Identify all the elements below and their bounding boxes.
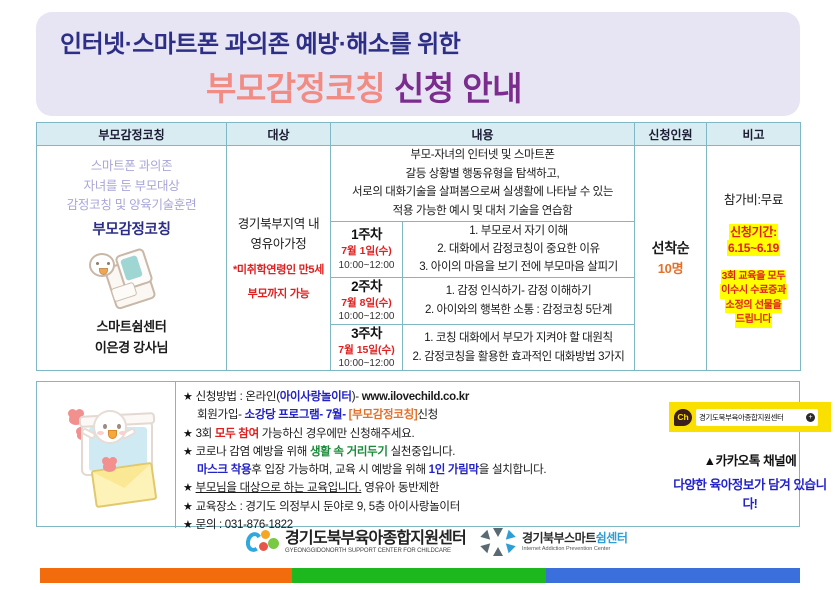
remark-gift-line1: 3회 교육을 모두 [721, 270, 787, 285]
program-instructor: 이은경 강사님 [37, 338, 226, 359]
note-line-apply-path: 회원가입- 소강당 프로그램- 7월- [부모감정코칭]신청 [183, 406, 653, 424]
note-segment: 을 설치합니다. [479, 464, 546, 476]
program-center-name: 스마트쉼센터 [37, 317, 226, 338]
cell-content-intro: 부모-자녀의 인터넷 및 스마트폰 갈등 상황별 행동유형을 탐색하고, 서로의… [331, 146, 635, 222]
character-in-box-with-envelope-icon [59, 400, 163, 512]
remark-period-label: 신청기간: [729, 224, 778, 240]
note-line-location: ★교육장소 : 경기도 의정부시 둔야로 9, 5층 아이사랑놀이터 [183, 498, 653, 516]
logo-smart-rest-center: 경기북부스마트쉼센터 Internet Addiction Prevention… [480, 528, 627, 556]
note-segment: 생활 속 거리두기 [310, 446, 388, 458]
star-icon: ★ [183, 446, 193, 458]
star-icon: ★ [183, 391, 193, 403]
program-title: 부모감정코칭 [37, 218, 226, 239]
note-segment[interactable]: www.ilovechild.co.kr [362, 391, 469, 403]
week1-label: 1주차 7월 1일(수) 10:00~12:00 [331, 221, 403, 277]
banner-subtitle: 인터넷·스마트폰 과의존 예방·해소를 위한 [60, 24, 460, 59]
week3-time: 10:00~12:00 [331, 357, 402, 371]
note-segment: 실천중입니다. [388, 446, 455, 458]
header-banner: 인터넷·스마트폰 과의존 예방·해소를 위한 부모감정코칭 신청 안내 [36, 12, 800, 116]
remark-period-value: 6.15~6.19 [727, 240, 780, 256]
note-segment: 소강당 프로그램- 7월- [245, 409, 346, 421]
content-intro-line-1: 부모-자녀의 인터넷 및 스마트폰 [331, 146, 634, 165]
flyer-page: 인터넷·스마트폰 과의존 예방·해소를 위한 부모감정코칭 신청 안내 부모감정… [0, 0, 835, 590]
week1-item-2: 2. 대화에서 감정코칭이 중요한 이유 [403, 240, 634, 258]
week2-item-2: 2. 아이와의 행복한 소통 : 감정코칭 5단계 [403, 301, 634, 319]
note-segment: 부모님을 대상으로 하는 교육입니다. [196, 482, 362, 494]
kakao-channel-name: 경기도북부육아종합지원센터 [699, 412, 784, 423]
count-method: 선착순 [635, 238, 706, 259]
th-remark: 비고 [707, 123, 801, 146]
th-target: 대상 [227, 123, 331, 146]
kakao-caption-2: 다양한 육아정보가 담겨 있습니다! [669, 474, 831, 512]
week2-items: 1. 감정 인식하기- 감정 이해하기 2. 아이와의 행복한 소통 : 감정코… [403, 277, 635, 324]
note-segment: [부모감정코칭] [349, 409, 418, 421]
note-segment: 신청방법 : 온라인( [196, 391, 280, 403]
note-segment: 신청 [417, 409, 438, 421]
logo2-korean-name: 경기북부스마트쉼센터 [522, 532, 627, 545]
content-intro-line-3: 서로의 대화기술을 살펴봄으로써 실생활에 나타날 수 있는 [331, 183, 634, 202]
logo2-kr-b: 쉼센터 [596, 531, 628, 545]
th-count: 신청인원 [635, 123, 707, 146]
logo2-english-name: Internet Addiction Prevention Center [522, 546, 627, 552]
note-segment: 영유아 동반제한 [361, 482, 439, 494]
star-icon: ★ [183, 501, 193, 513]
stripe-segment-green [292, 568, 546, 583]
program-sub1: 스마트폰 과의존 [37, 157, 226, 176]
week3-item-1: 1. 코칭 대화에서 부모가 지켜야 할 대원칙 [403, 329, 634, 347]
th-program: 부모감정코칭 [37, 123, 227, 146]
star-icon: ★ [183, 428, 193, 440]
note-line-covid-mask: 마스크 착용후 입장 가능하며, 교육 시 예방을 위해 1인 가림막을 설치합… [183, 461, 653, 479]
week1-date: 7월 1일(수) [331, 244, 402, 258]
week2-date: 7월 8일(수) [331, 296, 402, 310]
week1-item-3: 3. 아이의 마음을 보기 전에 부모마음 살피기 [403, 258, 634, 276]
week3-item-2: 2. 감정코칭을 활용한 효과적인 대화방법 3가지 [403, 348, 634, 366]
note-line-apply-method: ★신청방법 : 온라인(아이사랑놀이터)- www.ilovechild.co.… [183, 388, 653, 406]
week2-no: 2주차 [331, 278, 402, 296]
note-line-covid-distance: ★코로나 감염 예방을 위해 생활 속 거리두기 실천중입니다. [183, 443, 653, 461]
program-sub3: 감정코칭 및 양육기술훈련 [37, 196, 226, 215]
logo-childcare-center: 경기도북부육아종합지원센터 GYEONGGIDONORTH SUPPORT CE… [246, 529, 466, 555]
logo2-kr-a: 경기북부스마트 [522, 531, 596, 545]
kakao-channel-block: Ch 경기도북부육아종합지원센터 + ▲카카오톡 채널에 다양한 육아정보가 담… [669, 402, 831, 512]
cell-remark: 참가비:무료 신청기간: 6.15~6.19 3회 교육을 모두 이수시 수료증… [707, 146, 801, 371]
content-intro-line-2: 갈등 상황별 행동유형을 탐색하고, [331, 165, 634, 184]
kakao-caption-1: ▲카카오톡 채널에 [669, 450, 831, 469]
stripe-segment-blue [546, 568, 800, 583]
note-segment: 가능하신 경우에만 신청해주세요. [259, 428, 415, 440]
remark-gift-line2: 이수시 수료증과 [720, 284, 787, 299]
footer-logos: 경기도북부육아종합지원센터 GYEONGGIDONORTH SUPPORT CE… [246, 528, 627, 556]
banner-title-program: 부모감정코칭 [206, 70, 385, 107]
table-header-row: 부모감정코칭 대상 내용 신청인원 비고 [37, 123, 801, 146]
notes-divider [175, 382, 176, 528]
note-segment: 1인 가림막 [429, 464, 479, 476]
week1-items: 1. 부모로서 자기 이해 2. 대화에서 감정코칭이 중요한 이유 3. 아이… [403, 221, 635, 277]
plus-icon[interactable]: + [806, 413, 815, 422]
note-segment: 회원가입- [197, 409, 245, 421]
flip-phone-character-icon [89, 247, 175, 309]
program-sub2: 자녀를 둔 부모대상 [37, 177, 226, 196]
remark-gift-line4: 드립니다 [735, 313, 773, 328]
logo1-korean-name: 경기도북부육아종합지원센터 [285, 530, 466, 548]
target-note2: 부모까지 가능 [227, 286, 330, 303]
week1-time: 10:00~12:00 [331, 259, 402, 273]
note-line-attend-all: ★3회 모두 참여 가능하신 경우에만 신청해주세요. [183, 425, 653, 443]
cell-count: 선착순 10명 [635, 146, 707, 371]
week3-label: 3주차 7월 15일(수) 10:00~12:00 [331, 324, 403, 371]
table-row-intro: 스마트폰 과의존 자녀를 둔 부모대상 감정코칭 및 양육기술훈련 부모감정코칭… [37, 146, 801, 222]
footer: 경기도북부육아종합지원센터 GYEONGGIDONORTH SUPPORT CE… [0, 528, 835, 590]
note-line-parents-only: ★부모님을 대상으로 하는 교육입니다. 영유아 동반제한 [183, 479, 653, 497]
kakao-channel-field[interactable]: 경기도북부육아종합지원센터 + [696, 409, 818, 426]
footer-color-stripe [40, 568, 800, 583]
program-table: 부모감정코칭 대상 내용 신청인원 비고 스마트폰 과의존 자녀를 둔 부모대상… [36, 122, 801, 371]
cell-target: 경기북부지역 내 영유아가정 *미취학연령인 만5세 부모까지 가능 [227, 146, 331, 371]
cell-program: 스마트폰 과의존 자녀를 둔 부모대상 감정코칭 및 양육기술훈련 부모감정코칭… [37, 146, 227, 371]
content-intro-line-4: 적용 가능한 예시 및 대처 기술을 연습함 [331, 202, 634, 221]
note-segment: 코로나 감염 예방을 위해 [196, 446, 310, 458]
week2-item-1: 1. 감정 인식하기- 감정 이해하기 [403, 282, 634, 300]
banner-title-suffix: 신청 안내 [394, 70, 522, 107]
remark-gift-line3: 소정의 선물을 [725, 299, 783, 314]
note-segment: )- [352, 391, 362, 403]
target-line2: 영유아가정 [227, 234, 330, 254]
week1-no: 1주차 [331, 226, 402, 244]
week3-items: 1. 코칭 대화에서 부모가 지켜야 할 대원칙 2. 감정코칭을 활용한 효과… [403, 324, 635, 371]
week3-date: 7월 15일(수) [331, 343, 402, 357]
target-note1: *미취학연령인 만5세 [227, 262, 330, 279]
note-segment: 3회 [196, 428, 215, 440]
star-icon: ★ [183, 482, 193, 494]
target-line1: 경기북부지역 내 [227, 214, 330, 234]
kakao-ch-icon: Ch [674, 409, 692, 426]
notes-list: ★신청방법 : 온라인(아이사랑놀이터)- www.ilovechild.co.… [183, 388, 653, 535]
smart-rest-logo-mark-icon [480, 528, 516, 556]
note-segment: 교육장소 : 경기도 의정부시 둔야로 9, 5층 아이사랑놀이터 [196, 501, 460, 513]
notes-box: ★신청방법 : 온라인(아이사랑놀이터)- www.ilovechild.co.… [36, 381, 800, 527]
note-segment: 후 입장 가능하며, 교육 시 예방을 위해 [251, 464, 428, 476]
week2-label: 2주차 7월 8일(수) 10:00~12:00 [331, 277, 403, 324]
banner-title: 부모감정코칭 신청 안내 [206, 62, 522, 110]
week3-no: 3주차 [331, 325, 402, 343]
logo1-english-name: GYEONGGIDONORTH SUPPORT CENTER FOR CHILD… [285, 548, 466, 554]
stripe-segment-orange [40, 568, 292, 583]
count-number: 10명 [635, 259, 706, 279]
note-segment: 모두 참여 [215, 428, 259, 440]
remark-fee: 참가비:무료 [707, 189, 800, 208]
th-content: 내용 [331, 123, 635, 146]
note-segment: 마스크 착용 [197, 464, 251, 476]
note-segment: 아이사랑놀이터 [280, 391, 352, 403]
week1-item-1: 1. 부모로서 자기 이해 [403, 222, 634, 240]
childcare-logo-mark-icon [246, 529, 280, 555]
kakao-channel-bar[interactable]: Ch 경기도북부육아종합지원센터 + [669, 402, 831, 432]
week2-time: 10:00~12:00 [331, 310, 402, 324]
